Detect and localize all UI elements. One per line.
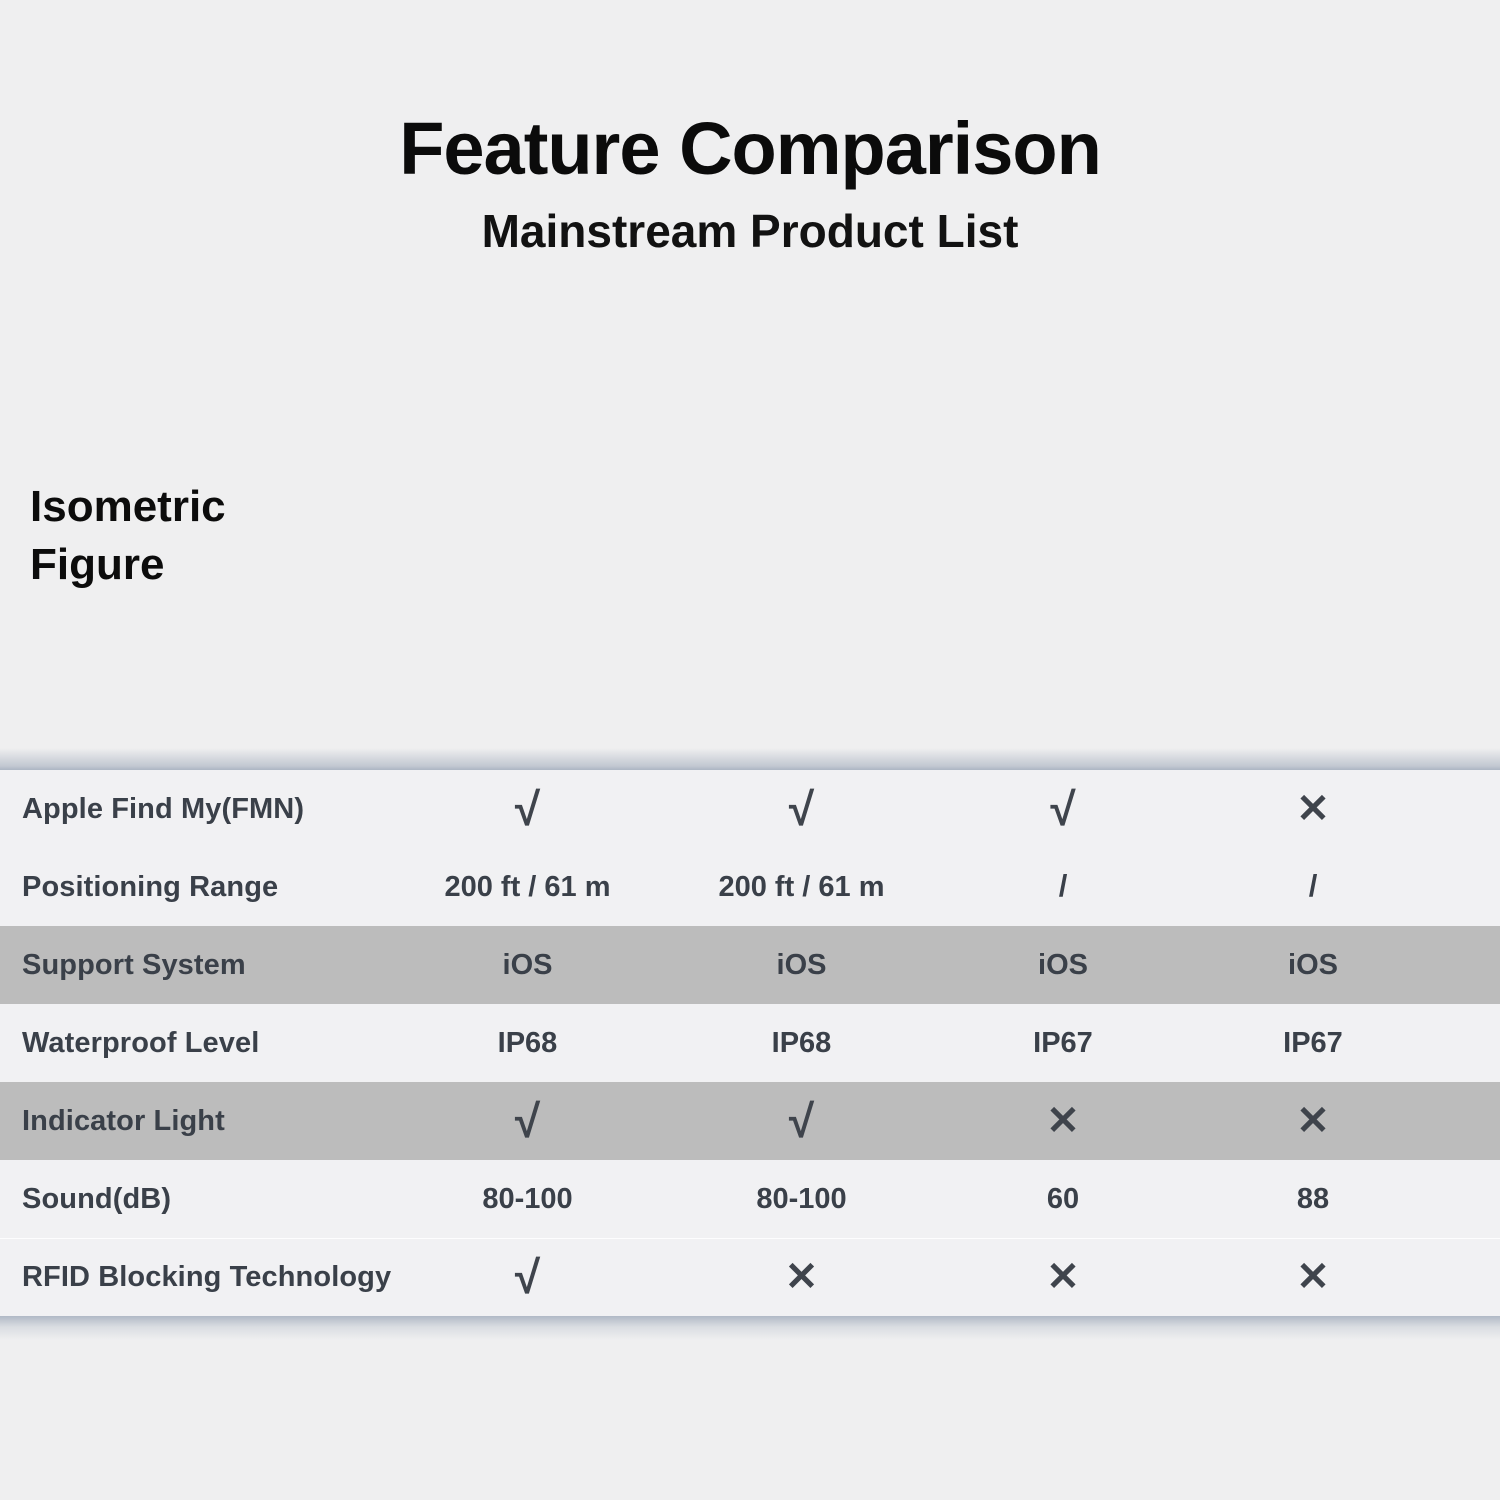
table-row: Support SystemiOSiOSiOSiOS <box>0 926 1500 1004</box>
cell-r5-c3: 88 <box>1178 1183 1448 1216</box>
cell-value: iOS <box>503 949 553 981</box>
cell-r2-c2: iOS <box>948 949 1178 982</box>
cross-icon: ✕ <box>1046 1099 1080 1143</box>
cell-r1-c0: 200 ft / 61 m <box>400 871 655 904</box>
row-label: RFID Blocking Technology <box>0 1261 400 1294</box>
check-icon: √ <box>515 783 540 835</box>
cross-icon: ✕ <box>785 1255 819 1299</box>
cell-value: IP68 <box>772 1027 832 1059</box>
cell-r1-c3: / <box>1178 870 1448 904</box>
cell-r0-c1: √ <box>655 786 948 833</box>
cell-r0-c0: √ <box>400 786 655 833</box>
cell-r5-c0: 80-100 <box>400 1183 655 1216</box>
cell-value: 80-100 <box>482 1183 572 1215</box>
table-row: Indicator Light√√✕✕ <box>0 1082 1500 1160</box>
cell-value: IP67 <box>1033 1027 1093 1059</box>
check-icon: √ <box>515 1095 540 1147</box>
cell-value: iOS <box>777 949 827 981</box>
table-row: Apple Find My(FMN)√√√✕ <box>0 770 1500 848</box>
row-label: Support System <box>0 949 400 982</box>
cell-value: iOS <box>1038 949 1088 981</box>
page-title: Feature Comparison <box>0 112 1500 186</box>
cell-r2-c3: iOS <box>1178 949 1448 982</box>
cell-r5-c2: 60 <box>948 1183 1178 1216</box>
table-row: Sound(dB)80-10080-1006088 <box>0 1160 1500 1238</box>
cell-r4-c3: ✕ <box>1178 1101 1448 1142</box>
cell-value: 200 ft / 61 m <box>718 871 884 903</box>
table-row: Waterproof LevelIP68IP68IP67IP67 <box>0 1004 1500 1082</box>
cross-icon: ✕ <box>1296 787 1330 831</box>
cell-r6-c2: ✕ <box>948 1257 1178 1298</box>
cell-value: IP68 <box>498 1027 558 1059</box>
cell-value: 88 <box>1297 1183 1329 1215</box>
cell-value: 200 ft / 61 m <box>444 871 610 903</box>
not-applicable-text: / <box>1309 868 1318 903</box>
cell-r3-c3: IP67 <box>1178 1027 1448 1060</box>
not-applicable-text: / <box>1059 868 1068 903</box>
cell-r2-c1: iOS <box>655 949 948 982</box>
cell-r5-c1: 80-100 <box>655 1183 948 1216</box>
cell-r6-c1: ✕ <box>655 1257 948 1298</box>
cell-r4-c2: ✕ <box>948 1101 1178 1142</box>
table-row: Positioning Range200 ft / 61 m200 ft / 6… <box>0 848 1500 926</box>
row-label: Indicator Light <box>0 1105 400 1138</box>
check-icon: √ <box>789 1095 814 1147</box>
check-icon: √ <box>515 1251 540 1303</box>
check-icon: √ <box>1050 783 1075 835</box>
cell-r4-c1: √ <box>655 1098 948 1145</box>
cell-value: iOS <box>1288 949 1338 981</box>
row-label: Waterproof Level <box>0 1027 400 1060</box>
cell-r1-c1: 200 ft / 61 m <box>655 871 948 904</box>
cell-r1-c2: / <box>948 870 1178 904</box>
cell-value: 80-100 <box>756 1183 846 1215</box>
cross-icon: ✕ <box>1046 1255 1080 1299</box>
cell-r3-c2: IP67 <box>948 1027 1178 1060</box>
product-image-row: seinxon RFID <box>0 420 1500 680</box>
row-label: Sound(dB) <box>0 1183 400 1216</box>
cross-icon: ✕ <box>1296 1255 1330 1299</box>
cell-r6-c3: ✕ <box>1178 1257 1448 1298</box>
page-header: Feature Comparison Mainstream Product Li… <box>0 0 1500 254</box>
cell-r3-c1: IP68 <box>655 1027 948 1060</box>
cell-r2-c0: iOS <box>400 949 655 982</box>
cell-r3-c0: IP68 <box>400 1027 655 1060</box>
check-icon: √ <box>789 783 814 835</box>
row-label: Apple Find My(FMN) <box>0 793 400 826</box>
row-label: Positioning Range <box>0 871 400 904</box>
table-row: RFID Blocking Technology√✕✕✕ <box>0 1238 1500 1316</box>
cell-r4-c0: √ <box>400 1098 655 1145</box>
cross-icon: ✕ <box>1296 1099 1330 1143</box>
cell-r6-c0: √ <box>400 1254 655 1301</box>
page-subtitle: Mainstream Product List <box>0 208 1500 254</box>
comparison-table: Apple Find My(FMN)√√√✕Positioning Range2… <box>0 770 1500 1316</box>
cell-r0-c2: √ <box>948 786 1178 833</box>
cell-value: 60 <box>1047 1183 1079 1215</box>
cell-r0-c3: ✕ <box>1178 789 1448 830</box>
cell-value: IP67 <box>1283 1027 1343 1059</box>
